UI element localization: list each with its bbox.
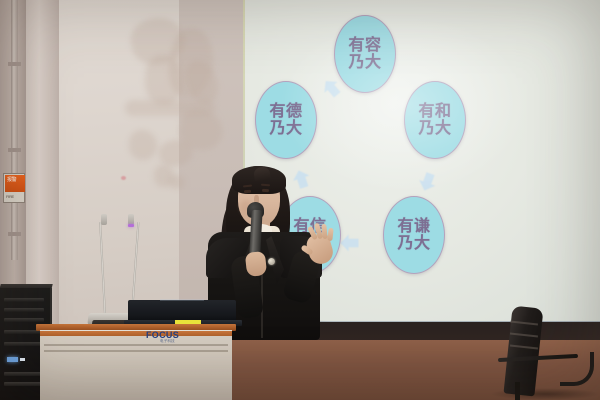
eye-right (262, 189, 269, 192)
podium-groove (44, 344, 228, 346)
alarm-face: 报警 (5, 175, 25, 192)
rack-slot (4, 382, 44, 386)
lecture-hall-photo: 报警 FIRE 有容 乃大 (0, 0, 600, 400)
rack-status-led-blue (7, 357, 18, 362)
slide-bubble-top[interactable]: 有容 乃大 (334, 15, 396, 93)
hand-holding-microphone (245, 251, 267, 277)
wall-stain (169, 175, 185, 189)
wall-panel-center (59, 0, 179, 345)
alarm-sublabel: FIRE (6, 194, 14, 199)
wall-stain (145, 55, 183, 105)
arrow-up-left-icon (319, 76, 344, 101)
podium-groove (44, 350, 228, 352)
gooseneck-microphone-right-indicator (128, 224, 134, 227)
slide-bubble-top-label: 有容 乃大 (348, 37, 381, 71)
lectern (40, 330, 232, 400)
rack-slot (4, 308, 44, 312)
rack-slot (4, 318, 44, 322)
arrow-down-icon (416, 171, 438, 194)
alarm-label: 报警 (7, 178, 16, 183)
rack-slot (4, 298, 44, 302)
pipe-bracket (8, 232, 21, 236)
wall-conduit-pipe (11, 0, 18, 260)
slide-bubble-left-label: 有德 乃大 (269, 103, 302, 137)
podium-accent-stripe (40, 331, 232, 336)
presenter-laptop-screen[interactable] (128, 300, 236, 322)
slide-bubble-bottom-right-label: 有谦 乃大 (397, 218, 430, 252)
pipe-bracket (8, 148, 21, 152)
fire-alarm-panel: 报警 FIRE (3, 173, 25, 203)
gooseneck-microphone-left-head (101, 214, 107, 225)
office-chair-post (515, 382, 520, 400)
wall-stain (129, 130, 157, 160)
rack-slot (4, 342, 44, 346)
podium-logo-subtitle: 电子科技 (160, 339, 175, 344)
pipe-bracket (8, 62, 21, 66)
hair-parting (253, 166, 271, 182)
finger (327, 228, 333, 241)
laptop-hinge-highlight (160, 299, 204, 301)
slide-bubble-bottom-right[interactable]: 有谦 乃大 (383, 196, 445, 274)
rack-slot (4, 372, 44, 376)
rack-status-led-white (20, 358, 25, 361)
lapel-brooch (268, 258, 275, 265)
slide-bubble-right-label: 有和 乃大 (418, 103, 451, 137)
slide-bubble-right[interactable]: 有和 乃大 (404, 81, 466, 159)
slide-bubble-left[interactable]: 有德 乃大 (255, 81, 317, 159)
eye-left (244, 190, 251, 193)
wall-pink-mark (121, 176, 126, 180)
